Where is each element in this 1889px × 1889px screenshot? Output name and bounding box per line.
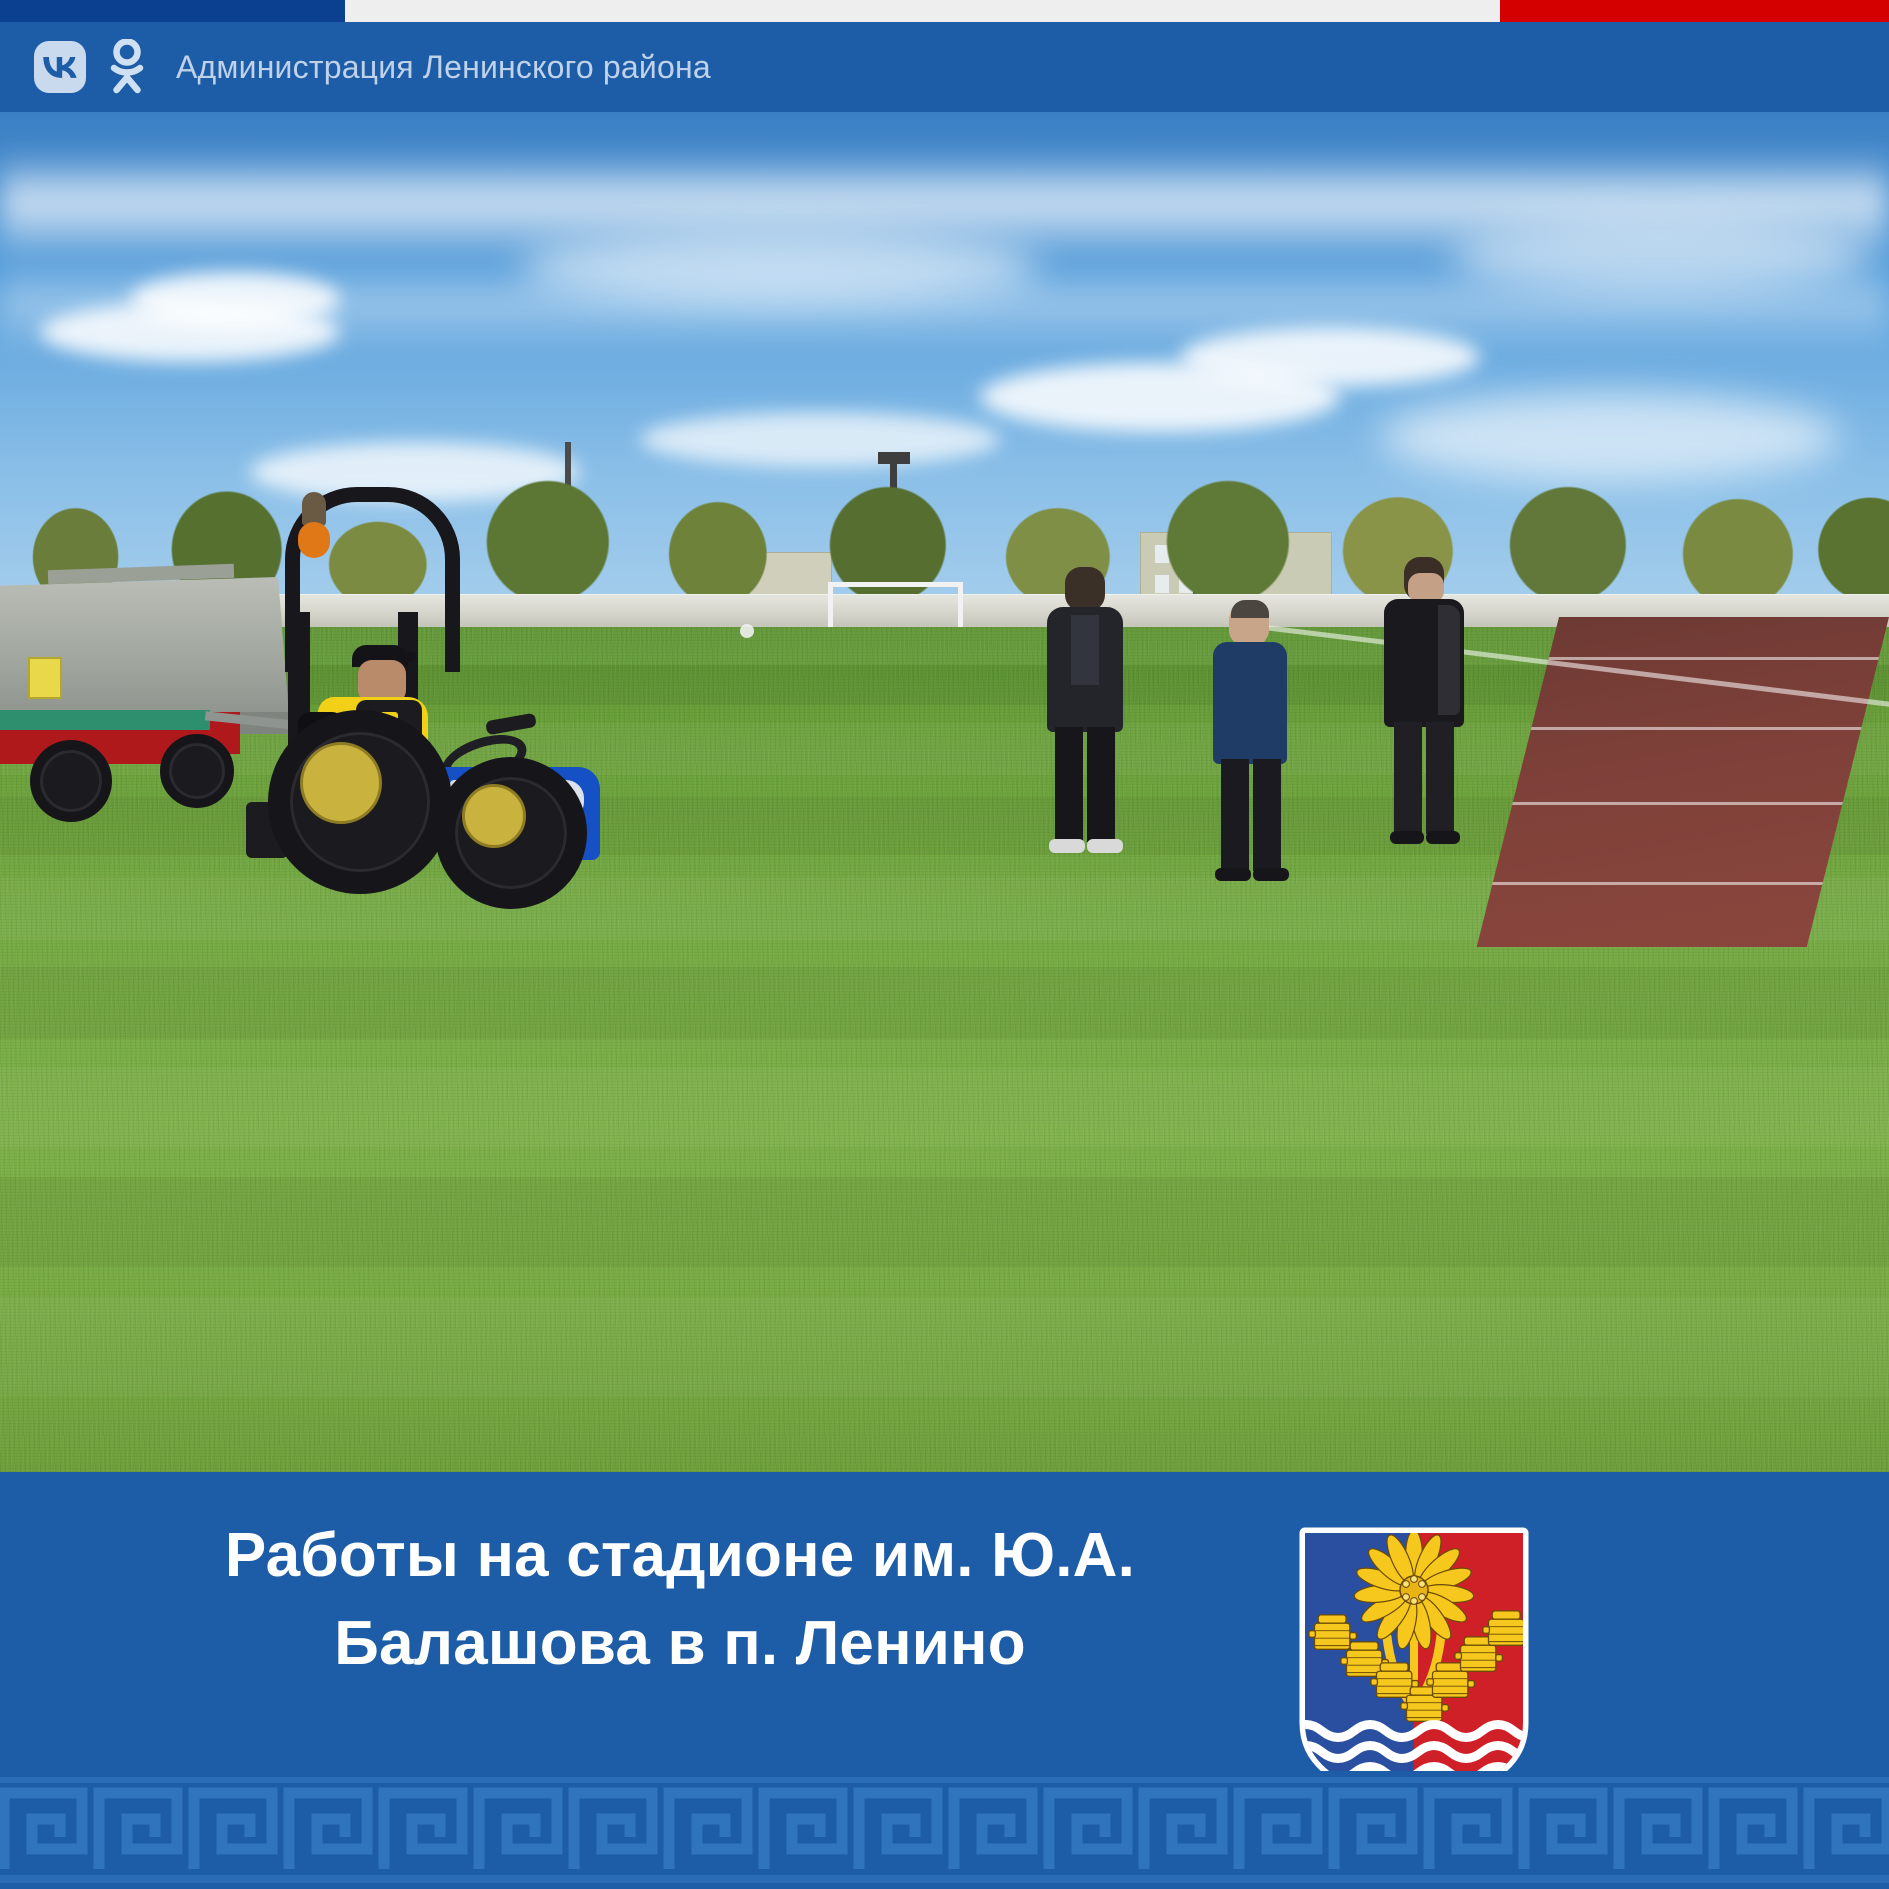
trailer-brush (0, 710, 210, 730)
ball (740, 624, 754, 638)
trailer-wheel (30, 740, 112, 822)
beacon-mount (302, 492, 326, 526)
cloud (640, 412, 1000, 467)
tractor-front-hub (462, 784, 526, 848)
photo-stadium-works (0, 112, 1889, 1472)
tractor-rear-hub (300, 742, 382, 824)
ok-icon[interactable] (102, 39, 152, 95)
caption-line-1: Работы на стадионе им. Ю.А. (120, 1512, 1240, 1600)
cloud (1180, 327, 1480, 387)
caption-band: Работы на стадионе им. Ю.А. Балашова в п… (0, 1472, 1889, 1889)
caption-line-2: Балашова в п. Ленино (120, 1600, 1240, 1688)
cloud (1450, 222, 1870, 292)
tricolor-blue-segment (0, 0, 345, 22)
account-name: Администрация Ленинского района (176, 49, 711, 86)
light-mast-head (878, 452, 910, 464)
cloud (520, 232, 1040, 302)
trailer-sticker (28, 657, 62, 699)
cloud (130, 272, 340, 327)
trailer-hopper (0, 577, 290, 727)
trailer-wheel (160, 734, 234, 808)
greek-key-meander-pattern (0, 1771, 1889, 1889)
social-icon-group (34, 39, 152, 95)
poster-caption: Работы на стадионе им. Ю.А. Балашова в п… (120, 1512, 1240, 1688)
social-media-poster: Администрация Ленинского района (0, 0, 1889, 1889)
tricolor-red-segment (1500, 0, 1889, 22)
amber-beacon-light (298, 522, 330, 558)
page-header: Администрация Ленинского района (0, 22, 1889, 112)
vk-icon[interactable] (34, 41, 86, 93)
russian-tricolor-bar (0, 0, 1889, 22)
